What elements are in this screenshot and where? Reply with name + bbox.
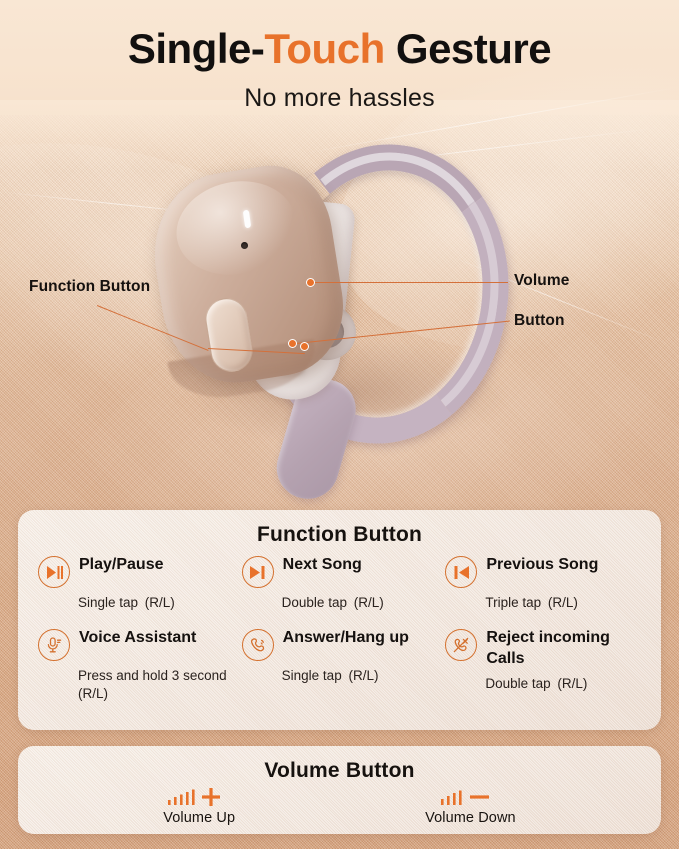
earbud-product-image (150, 138, 550, 478)
gesture-label: Next Song (283, 555, 362, 575)
volume-up-caption: Volume Up (163, 807, 235, 826)
callout-dot-volume (306, 278, 315, 287)
gesture-item-play-pause[interactable]: Play/Pause Single tap (R/L) (38, 555, 242, 612)
function-card-row-1: Play/Pause Single tap (R/L) Next Song (18, 547, 661, 612)
gesture-action: Single tap (R/L) (38, 588, 236, 612)
volume-up-icon (163, 787, 235, 807)
callout-dot-function-button (300, 342, 309, 351)
volume-button-card: Volume Button (18, 746, 661, 834)
title-part-1: Single- (128, 25, 265, 72)
header: Single-Touch Gesture No more hassles (0, 0, 679, 130)
answer-hangup-icon (242, 629, 274, 661)
callout-label-button: Button (514, 312, 565, 330)
leader-line-volume (314, 282, 508, 283)
callout-label-volume: Volume (514, 272, 569, 290)
volume-up-item[interactable]: Volume Up (163, 787, 235, 826)
gesture-cards: Function Button Play/Pause Sing (0, 498, 679, 849)
volume-down-caption: Volume Down (425, 807, 516, 826)
callout-label-function-button: Function Button (29, 278, 150, 296)
title-part-2: Gesture (385, 25, 551, 72)
gesture-action: Single tap (R/L) (242, 661, 440, 685)
gesture-action: Triple tap (R/L) (445, 588, 643, 612)
gesture-item-answer-hangup[interactable]: Answer/Hang up Single tap (R/L) (242, 628, 446, 703)
play-pause-icon (38, 556, 70, 588)
gesture-label: Answer/Hang up (283, 628, 409, 648)
gesture-item-reject-call[interactable]: Reject incoming Calls Double tap (R/L) (445, 628, 649, 703)
function-card-title: Function Button (18, 510, 661, 547)
title-accent: Touch (264, 25, 384, 72)
gesture-label: Play/Pause (79, 555, 164, 575)
callout-dot-button (288, 339, 297, 348)
infographic-canvas: Single-Touch Gesture No more hassles Fun… (0, 0, 679, 849)
gesture-action: Press and hold 3 second (R/L) (38, 661, 236, 703)
voice-assistant-icon (38, 629, 70, 661)
page-title: Single-Touch Gesture (0, 0, 679, 72)
function-button-card: Function Button Play/Pause Sing (18, 510, 661, 730)
gesture-action: Double tap (R/L) (445, 669, 643, 693)
previous-song-icon (445, 556, 477, 588)
reject-call-icon (445, 629, 477, 661)
microphone-hole (241, 242, 248, 249)
function-card-row-2: Voice Assistant Press and hold 3 second … (18, 612, 661, 703)
gesture-label: Previous Song (486, 555, 598, 575)
volume-card-title: Volume Button (18, 746, 661, 783)
next-song-icon (242, 556, 274, 588)
hero-product-area: Function Button Volume Button (0, 130, 679, 495)
page-subtitle: No more hassles (0, 72, 679, 113)
gesture-label: Voice Assistant (79, 628, 196, 648)
gesture-item-next-song[interactable]: Next Song Double tap (R/L) (242, 555, 446, 612)
gesture-label: Reject incoming Calls (486, 628, 636, 669)
volume-items: Volume Up (18, 783, 661, 826)
gesture-action: Double tap (R/L) (242, 588, 440, 612)
gesture-item-previous-song[interactable]: Previous Song Triple tap (R/L) (445, 555, 649, 612)
volume-down-icon (425, 787, 516, 807)
gesture-item-voice-assistant[interactable]: Voice Assistant Press and hold 3 second … (38, 628, 242, 703)
volume-down-item[interactable]: Volume Down (425, 787, 516, 826)
